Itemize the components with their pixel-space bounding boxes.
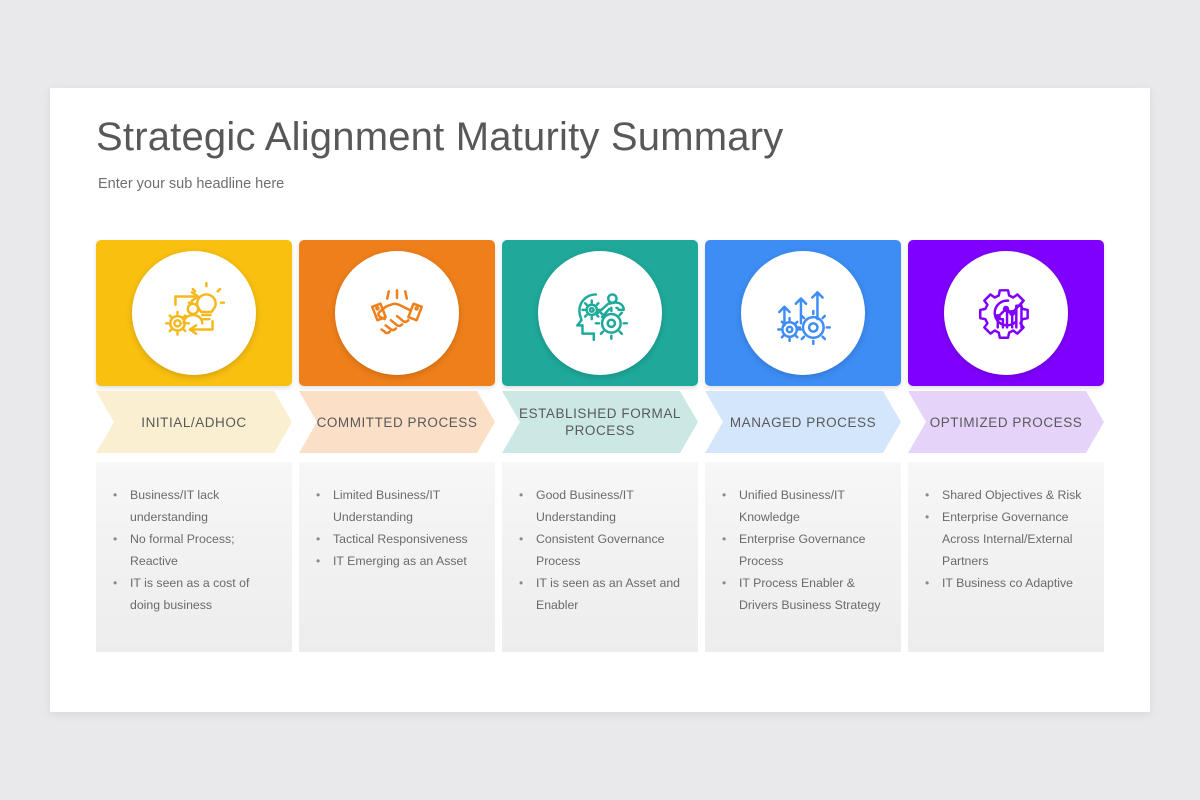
stage-body-4: Unified Business/IT Knowledge Enterprise… — [705, 462, 901, 652]
stage-column-managed-process[interactable]: MANAGED PROCESS Unified Business/IT Know… — [705, 240, 901, 652]
icon-badge-5 — [944, 251, 1068, 375]
stage-bullet-list-3: Good Business/IT Understanding Consisten… — [514, 484, 686, 616]
list-item: No formal Process; Reactive — [108, 528, 280, 572]
stage-banner-5: OPTIMIZED PROCESS — [908, 391, 1104, 453]
list-item: Shared Objectives & Risk — [920, 484, 1092, 506]
list-item: IT Process Enabler & Drivers Business St… — [717, 572, 889, 616]
stage-header-card-4[interactable] — [705, 240, 901, 386]
stage-body-3: Good Business/IT Understanding Consisten… — [502, 462, 698, 652]
stage-bullet-list-1: Business/IT lack understanding No formal… — [108, 484, 280, 616]
handshake-icon — [364, 280, 430, 346]
stage-label-5: OPTIMIZED PROCESS — [914, 414, 1099, 431]
stage-column-initial-adhoc[interactable]: INITIAL/ADHOC Business/IT lack understan… — [96, 240, 292, 652]
stage-bullet-list-5: Shared Objectives & Risk Enterprise Gove… — [920, 484, 1092, 594]
list-item: Unified Business/IT Knowledge — [717, 484, 889, 528]
slide-canvas: Strategic Alignment Maturity Summary Ent… — [50, 88, 1150, 712]
list-item: Business/IT lack understanding — [108, 484, 280, 528]
list-item: IT Emerging as an Asset — [311, 550, 483, 572]
stage-label-1: INITIAL/ADHOC — [125, 414, 262, 431]
list-item: IT is seen as an Asset and Enabler — [514, 572, 686, 616]
stage-label-3: ESTABLISHED FORMAL PROCESS — [502, 405, 698, 439]
growth-arrows-gears-icon — [770, 280, 836, 346]
maturity-stage-columns: INITIAL/ADHOC Business/IT lack understan… — [96, 240, 1104, 652]
list-item: Good Business/IT Understanding — [514, 484, 686, 528]
stage-banner-3: ESTABLISHED FORMAL PROCESS — [502, 391, 698, 453]
stage-banner-1: INITIAL/ADHOC — [96, 391, 292, 453]
stage-header-card-5[interactable] — [908, 240, 1104, 386]
stage-column-committed-process[interactable]: COMMITTED PROCESS Limited Business/IT Un… — [299, 240, 495, 652]
list-item: Limited Business/IT Understanding — [311, 484, 483, 528]
list-item: Enterprise Governance Across Internal/Ex… — [920, 506, 1092, 572]
process-cycle-idea-icon — [161, 280, 227, 346]
list-item: IT Business co Adaptive — [920, 572, 1092, 594]
stage-body-1: Business/IT lack understanding No formal… — [96, 462, 292, 652]
list-item: Consistent Governance Process — [514, 528, 686, 572]
icon-badge-4 — [741, 251, 865, 375]
icon-badge-3 — [538, 251, 662, 375]
page-subtitle: Enter your sub headline here — [98, 176, 284, 192]
stage-bullet-list-4: Unified Business/IT Knowledge Enterprise… — [717, 484, 889, 616]
stage-column-optimized-process[interactable]: OPTIMIZED PROCESS Shared Objectives & Ri… — [908, 240, 1104, 652]
stage-column-established-formal-process[interactable]: ESTABLISHED FORMAL PROCESS Good Business… — [502, 240, 698, 652]
stage-header-card-1[interactable] — [96, 240, 292, 386]
stage-header-card-3[interactable] — [502, 240, 698, 386]
icon-badge-1 — [132, 251, 256, 375]
page-title: Strategic Alignment Maturity Summary — [96, 115, 783, 160]
list-item: Enterprise Governance Process — [717, 528, 889, 572]
stage-banner-2: COMMITTED PROCESS — [299, 391, 495, 453]
list-item: IT is seen as a cost of doing business — [108, 572, 280, 616]
icon-badge-2 — [335, 251, 459, 375]
head-gears-robotic-arm-icon — [567, 280, 633, 346]
stage-body-2: Limited Business/IT Understanding Tactic… — [299, 462, 495, 652]
stage-label-2: COMMITTED PROCESS — [301, 414, 494, 431]
gear-bar-chart-icon — [973, 280, 1039, 346]
stage-label-4: MANAGED PROCESS — [714, 414, 892, 431]
stage-body-5: Shared Objectives & Risk Enterprise Gove… — [908, 462, 1104, 652]
stage-bullet-list-2: Limited Business/IT Understanding Tactic… — [311, 484, 483, 572]
stage-header-card-2[interactable] — [299, 240, 495, 386]
list-item: Tactical Responsiveness — [311, 528, 483, 550]
stage-banner-4: MANAGED PROCESS — [705, 391, 901, 453]
